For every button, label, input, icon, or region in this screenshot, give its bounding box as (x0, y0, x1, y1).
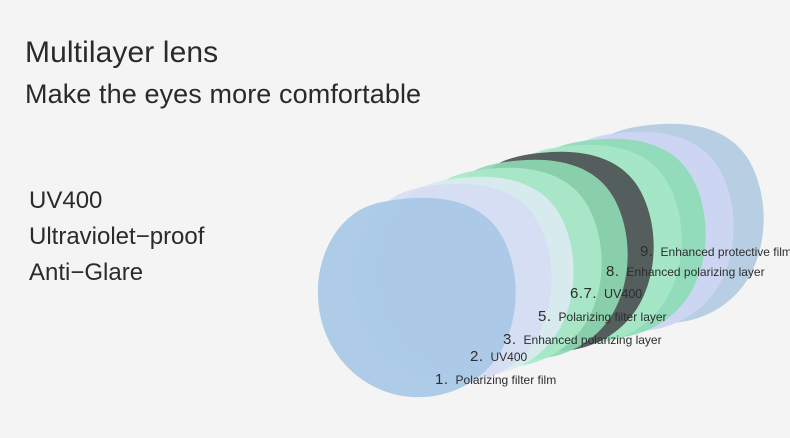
layer-label-3: 3.Enhanced polarizing layer (503, 331, 662, 349)
layer-label-number: 3. (503, 331, 517, 348)
layer-label-text: Enhanced polarizing layer (524, 333, 662, 347)
layer-label-9: 9.Enhanced protective film (640, 243, 790, 261)
page-title: Multilayer lens (25, 34, 421, 72)
layer-label-number: 2. (470, 348, 484, 365)
layer-label-number: 5. (538, 308, 552, 325)
feature-item-uv400: UV400 (29, 183, 204, 219)
multilayer-lens-infographic: Multilayer lens Make the eyes more comfo… (0, 0, 790, 438)
layer-label-number: 8. (606, 263, 620, 280)
layer-label-number: 9. (640, 243, 654, 260)
layer-label-text: UV400 (491, 350, 528, 364)
layer-label-number: 1. (435, 371, 449, 388)
feature-item-anti-glare: Anti−Glare (29, 255, 204, 291)
feature-list: UV400 Ultraviolet−proof Anti−Glare (29, 183, 204, 291)
page-subtitle: Make the eyes more comfortable (25, 76, 421, 112)
layer-label-8: 8.Enhanced polarizing layer (606, 263, 765, 281)
layer-label-2: 2.UV400 (470, 348, 527, 366)
layer-label-text: Enhanced polarizing layer (627, 265, 765, 279)
layer-label-5: 5.Polarizing filter layer (538, 308, 667, 326)
layer-label-1: 1.Polarizing filter film (435, 371, 556, 389)
layer-label-text: Enhanced protective film (661, 245, 790, 259)
layer-label-number: 6.7. (570, 285, 597, 302)
layer-label-text: Polarizing filter film (456, 373, 557, 387)
layer-label-text: Polarizing filter layer (559, 310, 667, 324)
feature-item-ultraviolet-proof: Ultraviolet−proof (29, 219, 204, 255)
layer-label-text: UV400 (604, 287, 642, 301)
heading-block: Multilayer lens Make the eyes more comfo… (25, 34, 421, 112)
layer-label-67: 6.7.UV400 (570, 285, 642, 303)
